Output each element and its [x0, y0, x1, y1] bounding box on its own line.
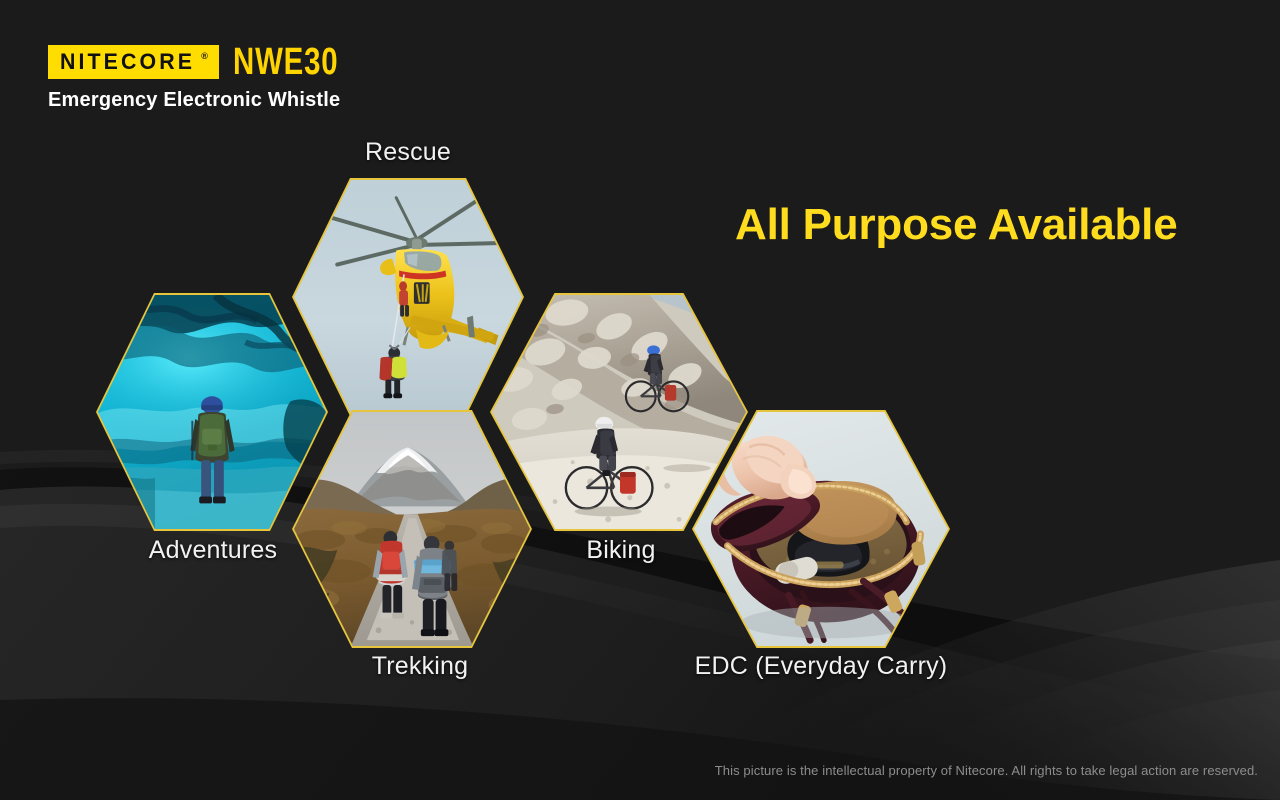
hex-image-rescue — [294, 180, 522, 414]
hex-label-rescue: Rescue — [348, 138, 468, 167]
mountain-biking-illustration — [492, 295, 746, 529]
hex-tile-trekking[interactable] — [292, 410, 532, 648]
hex-tile-edc[interactable] — [692, 410, 950, 648]
hex-label-biking: Biking — [566, 536, 676, 565]
hex-label-adventures: Adventures — [146, 536, 280, 565]
ice-cave-illustration — [98, 295, 326, 529]
hex-tile-adventures[interactable] — [96, 293, 328, 531]
hex-image-adventures — [98, 295, 326, 529]
poster-canvas: NITECORE ® NWE30 Emergency Electronic Wh… — [0, 0, 1280, 800]
hex-image-trekking — [294, 412, 530, 646]
hex-label-trekking: Trekking — [355, 652, 485, 681]
trekking-illustration — [294, 412, 530, 646]
hex-image-biking — [492, 295, 746, 529]
hex-tile-rescue[interactable] — [292, 178, 524, 416]
everyday-carry-bag-illustration — [694, 412, 948, 646]
hex-tile-biking[interactable] — [490, 293, 748, 531]
hex-label-edc: EDC (Everyday Carry) — [676, 652, 966, 681]
hex-image-edc — [694, 412, 948, 646]
hexagon-collage: Adventures — [0, 0, 1280, 800]
copyright-notice: This picture is the intellectual propert… — [0, 763, 1258, 778]
rescue-helicopter-illustration — [294, 180, 522, 414]
